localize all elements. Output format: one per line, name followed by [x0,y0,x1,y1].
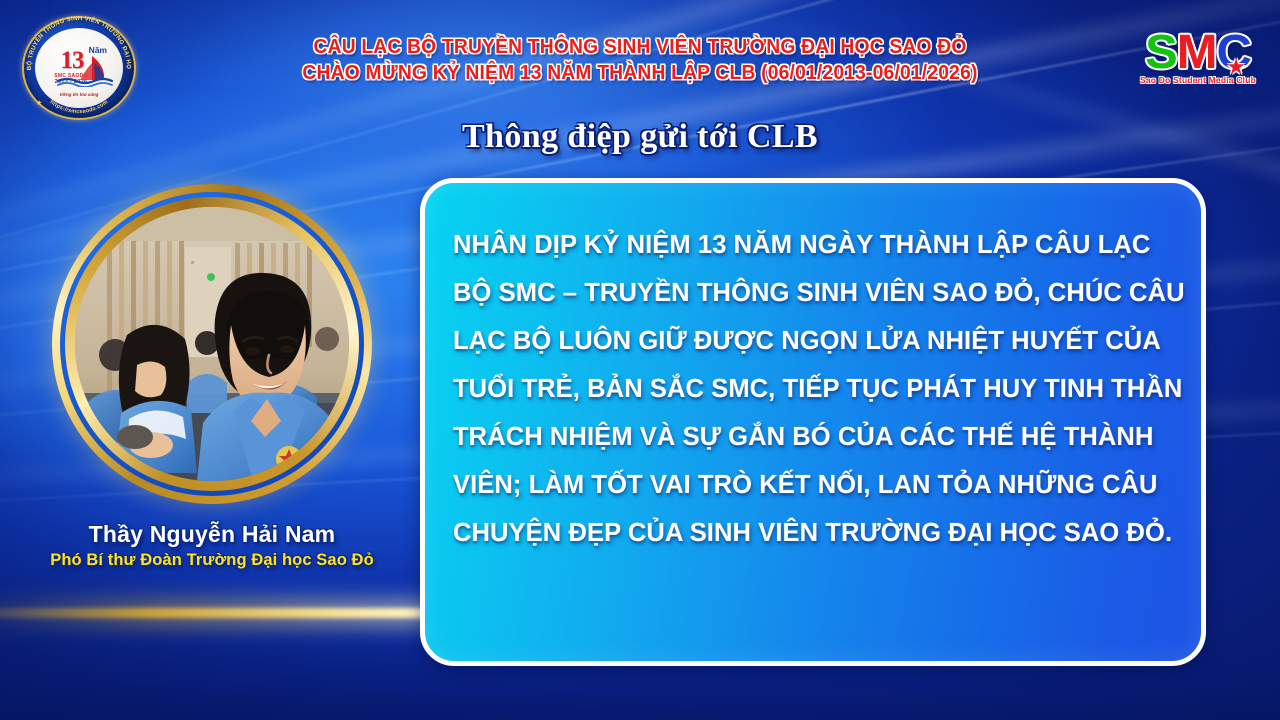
message-line: BỘ SMC – TRUYỀN THÔNG SINH VIÊN SAO ĐỎ, … [453,269,1175,317]
speaker-photo-frame [52,184,372,504]
speaker-caption: Thầy Nguyễn Hải Nam Phó Bí thư Đoàn Trườ… [0,520,424,571]
smc-star-icon: ★ [1226,54,1246,80]
header-title-block: CÂU LẠC BỘ TRUYỀN THÔNG SINH VIÊN TRƯỜNG… [170,34,1110,86]
badge-motto: Vững tin tỏa sáng [35,92,123,97]
message-card: NHÂN DỊP KỶ NIỆM 13 NĂM NGÀY THÀNH LẬP C… [420,178,1206,666]
message-line: LẠC BỘ LUÔN GIỮ ĐƯỢC NGỌN LỬA NHIỆT HUYẾ… [453,317,1175,365]
slide-canvas: CÂU LẠC BỘ TRUYỀN THÔNG SINH VIÊN TRƯỜNG… [0,0,1280,720]
badge-star-icon: ★ [36,99,42,107]
page-subtitle: Thông điệp gửi tới CLB [0,118,1280,156]
smc-letter-s: S [1145,26,1177,79]
badge-inner-disc: 13 Năm SMC SAODO 2013 - 2026 Vững tin tỏ… [35,28,123,108]
smc-letter-m: M [1177,26,1217,79]
club-anniversary-badge-logo: CÂU LẠC BỘ TRUYỀN THÔNG SINH VIÊN TRƯỜNG… [22,16,136,120]
header-title-line-1: CÂU LẠC BỘ TRUYỀN THÔNG SINH VIÊN TRƯỜNG… [198,34,1082,60]
message-line: TRÁCH NHIỆM VÀ SỰ GẮN BÓ CỦA CÁC THẾ HỆ … [453,413,1175,461]
speaker-role: Phó Bí thư Đoàn Trường Đại học Sao Đỏ [0,549,424,571]
smc-club-logo: SMC ★ Sao Do Student Media Club [1138,28,1258,104]
speaker-photo [75,207,349,481]
message-line: CHUYỆN ĐẸP CỦA SINH VIÊN TRƯỜNG ĐẠI HỌC … [453,509,1175,557]
message-line: TUỔI TRẺ, BẢN SẮC SMC, TIẾP TỤC PHÁT HUY… [453,365,1175,413]
message-line: VIÊN; LÀM TỐT VAI TRÒ KẾT NỐI, LAN TỎA N… [453,461,1175,509]
message-line: NHÂN DỊP KỶ NIỆM 13 NĂM NGÀY THÀNH LẬP C… [453,221,1175,269]
message-text-block: NHÂN DỊP KỶ NIỆM 13 NĂM NGÀY THÀNH LẬP C… [453,221,1175,557]
badge-waves-icon [57,77,119,87]
header-title-line-2: CHÀO MỪNG KỶ NIỆM 13 NĂM THÀNH LẬP CLB (… [198,60,1082,86]
speaker-name: Thầy Nguyễn Hải Nam [0,520,424,548]
